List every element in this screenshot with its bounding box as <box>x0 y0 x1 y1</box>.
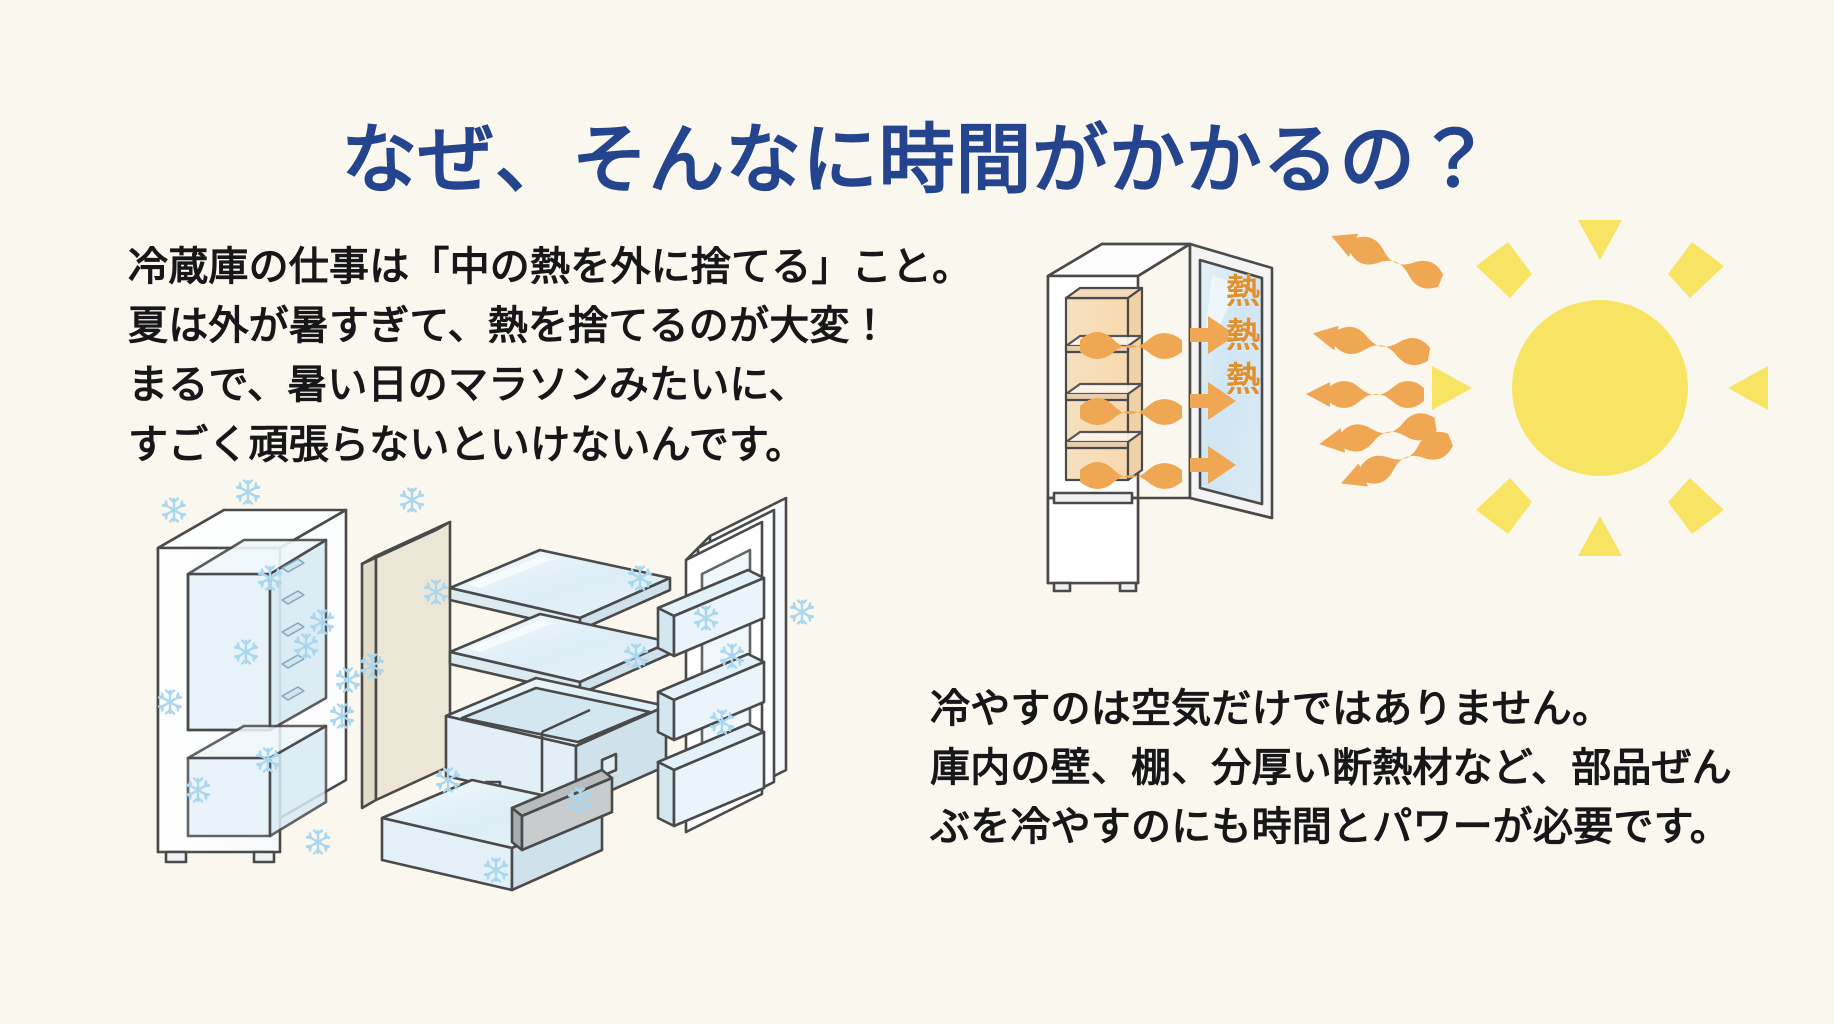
heat-label-3: 熱 <box>1226 352 1260 401</box>
page-title: なぜ、そんなに時間がかかるの？ <box>0 117 1834 204</box>
refrigerator-heat-sun-illustration <box>1040 198 1740 588</box>
door-with-pockets-icon <box>658 498 786 832</box>
heat-exhaust-arrows-icon <box>1080 316 1236 489</box>
body-left-line-1: 冷蔵庫の仕事は「中の熱を外に捨てる」こと。 <box>128 238 972 297</box>
body-right-line-1: 冷やすのは空気だけではありません。 <box>930 680 1732 739</box>
body-right-line-3: ぶを冷やすのにも時間とパワーが必要です。 <box>930 798 1732 857</box>
fridge-interior-icon <box>1066 288 1142 480</box>
body-left-line-4: すごく頑張らないといけないんです。 <box>128 416 972 475</box>
sun-heat-wave-arrows-icon <box>1306 224 1456 497</box>
heat-label-2: 熱 <box>1226 308 1260 357</box>
slide-canvas: なぜ、そんなに時間がかかるの？ 冷蔵庫の仕事は「中の熱を外に捨てる」こと。 夏は… <box>0 0 1834 1024</box>
body-left-line-3: まるで、暑い日のマラソンみたいに、 <box>128 356 972 415</box>
body-text-left: 冷蔵庫の仕事は「中の熱を外に捨てる」こと。 夏は外が暑すぎて、熱を捨てるのが大変… <box>128 238 972 475</box>
exploded-refrigerator-parts-illustration <box>150 470 890 900</box>
fridge-cabinet-shell-icon <box>158 510 346 862</box>
body-text-right: 冷やすのは空気だけではありません。 庫内の壁、棚、分厚い断熱材など、部品ぜん ぶ… <box>930 680 1732 858</box>
body-left-line-2: 夏は外が暑すぎて、熱を捨てるのが大変！ <box>128 297 972 356</box>
sun-icon <box>1432 220 1768 556</box>
body-right-line-2: 庫内の壁、棚、分厚い断熱材など、部品ぜん <box>930 739 1732 798</box>
heat-label-1: 熱 <box>1226 264 1260 313</box>
